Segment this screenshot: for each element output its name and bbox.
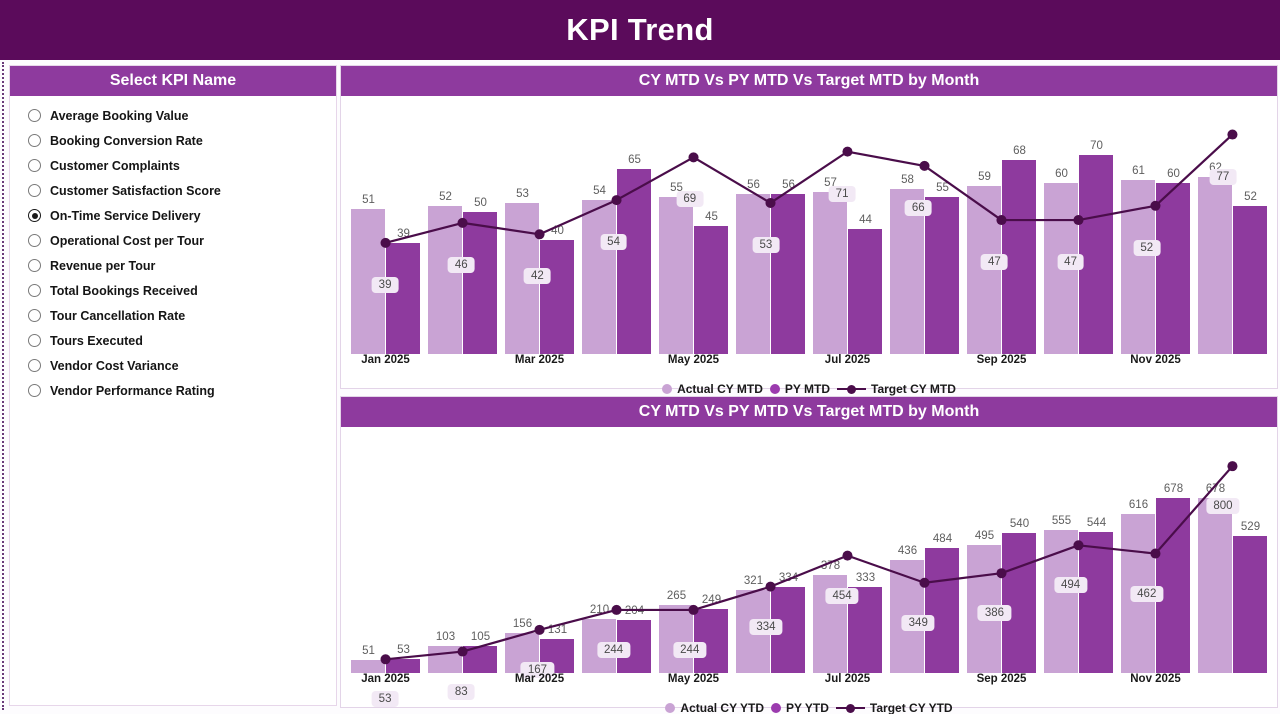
target-value-label: 77 <box>1210 169 1237 185</box>
kpi-radio-item[interactable]: Customer Satisfaction Score <box>28 178 336 203</box>
target-value-label: 462 <box>1130 586 1163 602</box>
bar-value-label-py: 39 <box>397 228 410 240</box>
bar-value-label-py: 65 <box>628 154 641 166</box>
bar-value-label-py: 45 <box>705 211 718 223</box>
bar-value-label-actual: 103 <box>436 631 455 643</box>
radio-button-icon[interactable] <box>28 134 41 147</box>
bar-actual[interactable] <box>659 197 693 354</box>
target-value-label: 47 <box>1057 254 1084 270</box>
bar-actual[interactable] <box>1198 177 1232 354</box>
radio-button-icon[interactable] <box>28 384 41 397</box>
slicer-header: Select KPI Name <box>10 66 336 96</box>
bar-py[interactable] <box>1079 155 1113 355</box>
bar-value-label-py: 40 <box>551 225 564 237</box>
page-header: KPI Trend <box>0 0 1280 60</box>
bar-value-label-actual: 59 <box>978 171 991 183</box>
bar-group[interactable]: 6160 <box>1117 96 1194 354</box>
bar-group[interactable]: 5968 <box>963 96 1040 354</box>
bar-value-label-actual: 616 <box>1129 499 1148 511</box>
bar-group[interactable]: 103105 <box>424 427 501 673</box>
bar-value-label-actual: 378 <box>821 560 840 572</box>
bar-value-label-actual: 52 <box>439 191 452 203</box>
legend-dot-icon <box>770 384 780 394</box>
kpi-radio-item[interactable]: Vendor Cost Variance <box>28 353 336 378</box>
bar-value-label-py: 53 <box>397 644 410 656</box>
target-value-label: 52 <box>1133 240 1160 256</box>
bar-group[interactable]: 555544 <box>1040 427 1117 673</box>
page-title: KPI Trend <box>566 12 713 48</box>
bar-group[interactable]: 5465 <box>578 96 655 354</box>
bar-value-label-actual: 54 <box>593 185 606 197</box>
target-value-label: 46 <box>448 257 475 273</box>
bar-group[interactable]: 5153 <box>347 427 424 673</box>
bar-group[interactable]: 321334 <box>732 427 809 673</box>
bar-value-label-actual: 495 <box>975 530 994 542</box>
x-axis-tick: . <box>732 673 809 695</box>
bar-value-label-actual: 321 <box>744 575 763 587</box>
bar-value-label-actual: 156 <box>513 618 532 630</box>
chart-header-mtd: CY MTD Vs PY MTD Vs Target MTD by Month <box>341 66 1277 96</box>
bar-group[interactable]: 265249 <box>655 427 732 673</box>
kpi-radio-label: Total Bookings Received <box>50 284 198 298</box>
kpi-radio-label: Operational Cost per Tour <box>50 234 204 248</box>
bar-py[interactable] <box>848 229 882 354</box>
kpi-radio-item[interactable]: Tour Cancellation Rate <box>28 303 336 328</box>
target-value-label: 39 <box>372 277 399 293</box>
bar-value-label-py: 540 <box>1010 518 1029 530</box>
x-axis-tick: . <box>732 354 809 376</box>
x-axis-tick: . <box>886 354 963 376</box>
kpi-radio-label: Revenue per Tour <box>50 259 155 273</box>
x-axis-tick: . <box>578 354 655 376</box>
kpi-radio-item[interactable]: Total Bookings Received <box>28 278 336 303</box>
bar-value-label-actual: 436 <box>898 545 917 557</box>
x-axis-tick: Sep 2025 <box>963 354 1040 376</box>
legend-label: Actual CY YTD <box>680 701 764 714</box>
x-axis-tick: Jul 2025 <box>809 673 886 695</box>
bar-py[interactable] <box>1079 532 1113 673</box>
x-axis-mtd: Jan 2025.Mar 2025.May 2025.Jul 2025.Sep … <box>341 354 1277 376</box>
legend-item[interactable]: PY YTD <box>771 701 829 714</box>
radio-button-icon[interactable] <box>28 184 41 197</box>
bar-group[interactable]: 210204 <box>578 427 655 673</box>
x-axis-tick: . <box>1194 354 1271 376</box>
bar-value-label-py: 105 <box>471 631 490 643</box>
bar-actual[interactable] <box>428 646 462 673</box>
target-value-label: 349 <box>902 615 935 631</box>
plot-area-mtd: 5139525053405465554556565744585559686070… <box>341 96 1277 354</box>
bar-group[interactable]: 5340 <box>501 96 578 354</box>
kpi-radio-item[interactable]: Vendor Performance Rating <box>28 378 336 403</box>
bar-value-label-actual: 56 <box>747 179 760 191</box>
bar-py[interactable] <box>540 240 574 354</box>
legend-label: Actual CY MTD <box>677 382 763 396</box>
bar-group[interactable]: 156131 <box>501 427 578 673</box>
kpi-radio-label: Tours Executed <box>50 334 143 348</box>
bar-value-label-py: 204 <box>625 605 644 617</box>
bar-actual[interactable] <box>813 192 847 354</box>
kpi-radio-item[interactable]: Operational Cost per Tour <box>28 228 336 253</box>
x-axis-tick: . <box>424 354 501 376</box>
legend-item[interactable]: Target CY YTD <box>836 701 953 714</box>
bar-group[interactable]: 436484 <box>886 427 963 673</box>
radio-button-icon[interactable] <box>28 234 41 247</box>
x-axis-tick: May 2025 <box>655 673 732 695</box>
radio-button-icon[interactable] <box>28 309 41 322</box>
kpi-slicer-panel: Select KPI Name Average Booking ValueBoo… <box>9 65 337 706</box>
radio-button-icon[interactable] <box>28 284 41 297</box>
bar-py[interactable] <box>1233 206 1267 354</box>
bar-value-label-py: 529 <box>1241 521 1260 533</box>
focus-rail <box>2 62 4 710</box>
target-value-label: 54 <box>600 234 627 250</box>
bar-value-label-py: 484 <box>933 533 952 545</box>
legend-label: PY YTD <box>786 701 829 714</box>
bar-value-label-actual: 210 <box>590 604 609 616</box>
bar-group[interactable]: 5545 <box>655 96 732 354</box>
bar-value-label-actual: 53 <box>516 188 529 200</box>
legend-label: Target CY MTD <box>871 382 956 396</box>
x-axis-tick: Mar 2025 <box>501 673 578 695</box>
bar-py[interactable] <box>386 243 420 354</box>
radio-button-icon[interactable] <box>28 159 41 172</box>
bar-actual[interactable] <box>736 194 770 354</box>
chart-card-ytd: CY MTD Vs PY MTD Vs Target MTD by Month … <box>340 396 1278 708</box>
target-value-label: 244 <box>597 642 630 658</box>
kpi-radio-label: Customer Complaints <box>50 159 180 173</box>
target-value-label: 53 <box>753 237 780 253</box>
x-axis-tick: Jan 2025 <box>347 354 424 376</box>
kpi-radio-label: Customer Satisfaction Score <box>50 184 221 198</box>
kpi-radio-item[interactable]: Booking Conversion Rate <box>28 128 336 153</box>
x-axis-tick: . <box>1194 673 1271 695</box>
bar-py[interactable] <box>463 212 497 355</box>
radio-button-icon[interactable] <box>28 209 41 222</box>
target-value-label: 386 <box>978 605 1011 621</box>
x-axis-tick: . <box>1040 673 1117 695</box>
bar-value-label-py: 60 <box>1167 168 1180 180</box>
bar-group[interactable]: 495540 <box>963 427 1040 673</box>
chart-title-mtd: CY MTD Vs PY MTD Vs Target MTD by Month <box>639 72 979 90</box>
legend-dot-icon <box>665 703 675 713</box>
target-value-label: 494 <box>1054 577 1087 593</box>
bar-py[interactable] <box>694 609 728 673</box>
x-axis-tick: . <box>886 673 963 695</box>
target-value-label: 71 <box>829 186 856 202</box>
radio-button-icon[interactable] <box>28 109 41 122</box>
bar-group[interactable]: 5656 <box>732 96 809 354</box>
bar-py[interactable] <box>771 194 805 354</box>
bar-actual[interactable] <box>1044 530 1078 673</box>
bar-value-label-py: 70 <box>1090 140 1103 152</box>
x-axis-tick: May 2025 <box>655 354 732 376</box>
target-value-label: 47 <box>981 254 1008 270</box>
bar-series-container: 5153103105156131210204265249321334378333… <box>341 427 1277 673</box>
target-value-label: 454 <box>825 588 858 604</box>
bar-value-label-actual: 58 <box>901 174 914 186</box>
kpi-radio-item[interactable]: Average Booking Value <box>28 103 336 128</box>
bar-py[interactable] <box>463 646 497 673</box>
bar-py[interactable] <box>925 548 959 673</box>
legend-line-marker-icon <box>836 704 865 713</box>
x-axis-tick: . <box>1040 354 1117 376</box>
radio-button-icon[interactable] <box>28 334 41 347</box>
legend-line-marker-icon <box>837 385 866 394</box>
x-axis-tick: Nov 2025 <box>1117 354 1194 376</box>
bar-py[interactable] <box>1002 533 1036 673</box>
bar-value-label-py: 678 <box>1164 483 1183 495</box>
bar-value-label-actual: 51 <box>362 194 375 206</box>
bar-value-label-actual: 555 <box>1052 515 1071 527</box>
bar-value-label-py: 333 <box>856 572 875 584</box>
x-axis-tick: Mar 2025 <box>501 354 578 376</box>
bar-group[interactable]: 5744 <box>809 96 886 354</box>
bar-actual[interactable] <box>1121 180 1155 354</box>
bar-py[interactable] <box>925 197 959 354</box>
bar-value-label-py: 55 <box>936 182 949 194</box>
bar-value-label-py: 68 <box>1013 145 1026 157</box>
kpi-radio-item[interactable]: Customer Complaints <box>28 153 336 178</box>
bar-value-label-actual: 60 <box>1055 168 1068 180</box>
x-axis-ytd: Jan 2025.Mar 2025.May 2025.Jul 2025.Sep … <box>341 673 1277 695</box>
bar-group[interactable]: 5855 <box>886 96 963 354</box>
bar-value-label-actual: 61 <box>1132 165 1145 177</box>
bar-group[interactable]: 6252 <box>1194 96 1271 354</box>
legend-item[interactable]: Target CY MTD <box>837 382 956 396</box>
kpi-radio-label: Vendor Cost Variance <box>50 359 179 373</box>
bar-group[interactable]: 378333 <box>809 427 886 673</box>
bar-value-label-actual: 678 <box>1206 483 1225 495</box>
bar-group[interactable]: 5250 <box>424 96 501 354</box>
target-value-label: 244 <box>673 642 706 658</box>
radio-button-icon[interactable] <box>28 359 41 372</box>
target-value-label: 42 <box>524 268 551 284</box>
bar-actual[interactable] <box>351 660 385 673</box>
legend-dot-icon <box>662 384 672 394</box>
legend-label: PY MTD <box>785 382 830 396</box>
legend-dot-icon <box>771 703 781 713</box>
x-axis-tick: . <box>424 673 501 695</box>
chart-card-mtd: CY MTD Vs PY MTD Vs Target MTD by Month … <box>340 65 1278 389</box>
bar-value-label-py: 52 <box>1244 191 1257 203</box>
chart-header-ytd: CY MTD Vs PY MTD Vs Target MTD by Month <box>341 397 1277 427</box>
x-axis-tick: Sep 2025 <box>963 673 1040 695</box>
x-axis-tick: Nov 2025 <box>1117 673 1194 695</box>
target-value-label: 334 <box>749 619 782 635</box>
bar-value-label-py: 334 <box>779 572 798 584</box>
slicer-title: Select KPI Name <box>110 72 236 90</box>
bar-value-label-actual: 265 <box>667 590 686 602</box>
kpi-radio-label: Tour Cancellation Rate <box>50 309 185 323</box>
bar-actual[interactable] <box>1198 498 1232 673</box>
bar-actual[interactable] <box>582 200 616 354</box>
radio-button-icon[interactable] <box>28 259 41 272</box>
kpi-radio-label: Average Booking Value <box>50 109 188 123</box>
kpi-radio-label: Vendor Performance Rating <box>50 384 215 398</box>
bar-value-label-py: 56 <box>782 179 795 191</box>
bar-series-container: 5139525053405465554556565744585559686070… <box>341 96 1277 354</box>
bar-group[interactable]: 5139 <box>347 96 424 354</box>
bar-group[interactable]: 616678 <box>1117 427 1194 673</box>
bar-value-label-py: 544 <box>1087 517 1106 529</box>
legend-item[interactable]: Actual CY YTD <box>665 701 764 714</box>
x-axis-tick: Jul 2025 <box>809 354 886 376</box>
bar-py[interactable] <box>617 169 651 354</box>
legend-item[interactable]: PY MTD <box>770 382 830 396</box>
bar-py[interactable] <box>1233 536 1267 673</box>
bar-value-label-py: 131 <box>548 624 567 636</box>
bar-group[interactable]: 6070 <box>1040 96 1117 354</box>
plot-area-ytd: 5153103105156131210204265249321334378333… <box>341 427 1277 673</box>
bar-value-label-py: 50 <box>474 197 487 209</box>
bar-py[interactable] <box>1156 183 1190 354</box>
chart-title-ytd: CY MTD Vs PY MTD Vs Target MTD by Month <box>639 403 979 421</box>
dashboard-page: KPI Trend Select KPI Name Average Bookin… <box>0 0 1280 714</box>
legend-item[interactable]: Actual CY MTD <box>662 382 763 396</box>
legend-ytd: Actual CY YTDPY YTDTarget CY YTD <box>341 695 1277 714</box>
bar-group[interactable]: 678529 <box>1194 427 1271 673</box>
kpi-radio-item[interactable]: On-Time Service Delivery <box>28 203 336 228</box>
x-axis-tick: . <box>578 673 655 695</box>
kpi-radio-list: Average Booking ValueBooking Conversion … <box>10 96 336 403</box>
kpi-radio-item[interactable]: Tours Executed <box>28 328 336 353</box>
target-value-label: 69 <box>676 191 703 207</box>
bar-py[interactable] <box>386 659 420 673</box>
target-value-label: 66 <box>905 200 932 216</box>
x-axis-tick: Jan 2025 <box>347 673 424 695</box>
kpi-radio-item[interactable]: Revenue per Tour <box>28 253 336 278</box>
bar-actual[interactable] <box>659 605 693 674</box>
target-value-label: 800 <box>1206 498 1239 514</box>
kpi-radio-label: Booking Conversion Rate <box>50 134 203 148</box>
kpi-radio-label: On-Time Service Delivery <box>50 209 201 223</box>
bar-value-label-py: 249 <box>702 594 721 606</box>
legend-label: Target CY YTD <box>870 701 953 714</box>
bar-py[interactable] <box>694 226 728 354</box>
bar-value-label-py: 44 <box>859 214 872 226</box>
bar-actual[interactable] <box>428 206 462 354</box>
bar-value-label-actual: 51 <box>362 645 375 657</box>
